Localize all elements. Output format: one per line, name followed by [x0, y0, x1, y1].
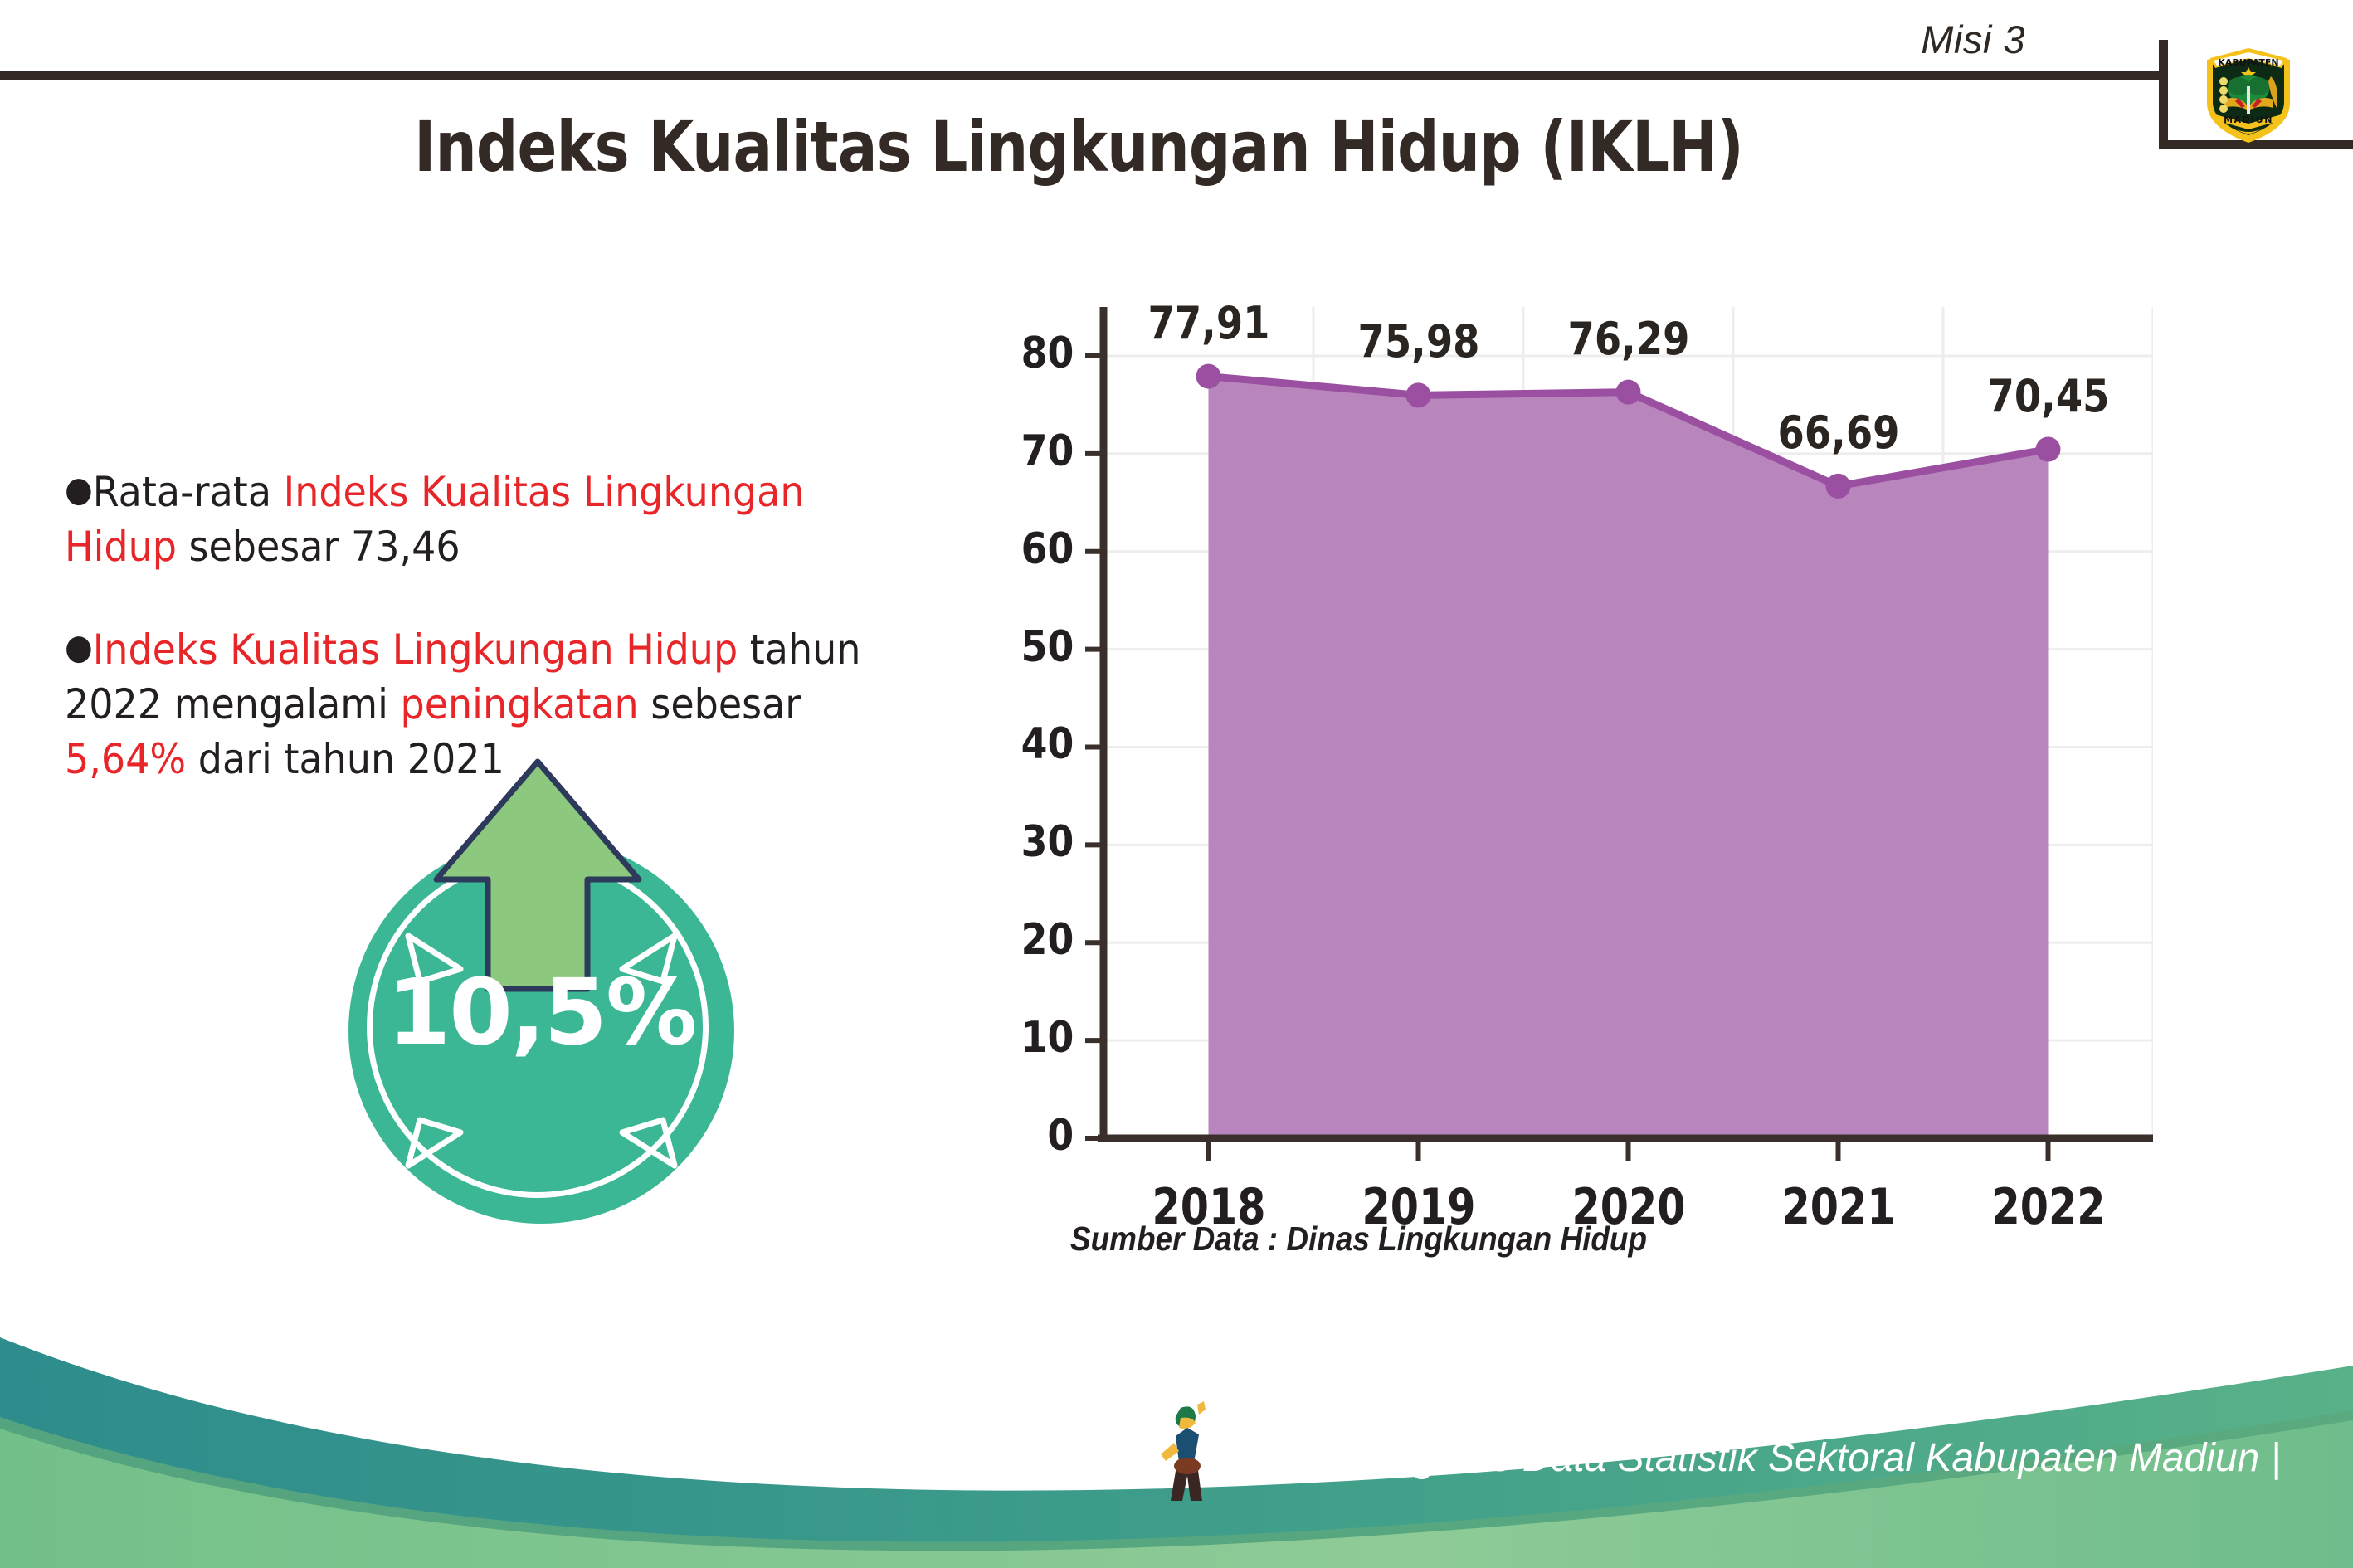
data-point-label: 66,69	[1732, 407, 1946, 459]
highlighted-phrase: 5,64%	[65, 735, 186, 783]
plain-phrase: Rata-rata	[93, 468, 284, 516]
y-axis-tick-label: 60	[1021, 524, 1074, 574]
chart-plot-svg	[975, 299, 2153, 1161]
source-note: Sumber Data : Dinas Lingkungan Hidup	[1070, 1220, 1647, 1259]
increase-badge: 10,5%	[324, 755, 772, 1220]
bullet-dot-icon: ●	[65, 469, 93, 509]
y-axis-tick-label: 20	[1021, 915, 1074, 965]
statistics-person-icon	[1156, 1400, 1220, 1506]
iklh-area-chart: 01020304050607080 20182019202020212022 7…	[975, 299, 2153, 1161]
data-point-label: 77,91	[1102, 297, 1316, 349]
y-axis-tick-label: 80	[1021, 329, 1074, 378]
y-axis-tick-label: 70	[1021, 426, 1074, 476]
y-axis-tick-label: 10	[1021, 1013, 1074, 1063]
highlighted-phrase: peningkatan	[401, 680, 639, 728]
page-title: Indeks Kualitas Lingkungan Hidup (IKLH)	[173, 106, 1985, 187]
x-axis-tick-label: 2022	[1973, 1178, 2122, 1236]
y-axis-tick-label: 50	[1021, 622, 1074, 672]
misi-label: Misi 3	[1921, 17, 2025, 62]
badge-value: 10,5%	[348, 959, 734, 1065]
header-divider-rule	[0, 71, 2160, 80]
y-axis-tick-label: 0	[1047, 1111, 1074, 1161]
y-axis-tick-label: 40	[1021, 719, 1074, 769]
header-corner-bracket-vertical	[2159, 40, 2168, 149]
bullet-text-0: Rata-rata Indeks Kualitas Lingkungan Hid…	[65, 468, 805, 571]
data-point-label: 70,45	[1941, 370, 2156, 422]
data-point-label: 76,29	[1522, 313, 1736, 365]
highlighted-phrase: Indeks Kualitas Lingkungan Hidup	[93, 626, 738, 674]
kabupaten-madiun-emblem-icon: KABUPATEN MADIUN	[2190, 35, 2307, 151]
plain-phrase: sebesar	[639, 680, 801, 728]
svg-text:MADIUN: MADIUN	[2224, 114, 2273, 125]
y-axis-tick-label: 30	[1021, 817, 1074, 867]
list-item: ●Rata-rata Indeks Kualitas Lingkungan Hi…	[65, 465, 904, 574]
bullet-dot-icon: ●	[65, 626, 93, 667]
data-point-label: 75,98	[1312, 315, 1526, 368]
svg-text:KABUPATEN: KABUPATEN	[2218, 57, 2278, 68]
plain-phrase: sebesar 73,46	[177, 523, 460, 571]
x-axis-tick-label: 2021	[1763, 1178, 1912, 1236]
footer-text: Media Infografis Data Statistik Sektoral…	[1228, 1435, 2281, 1481]
